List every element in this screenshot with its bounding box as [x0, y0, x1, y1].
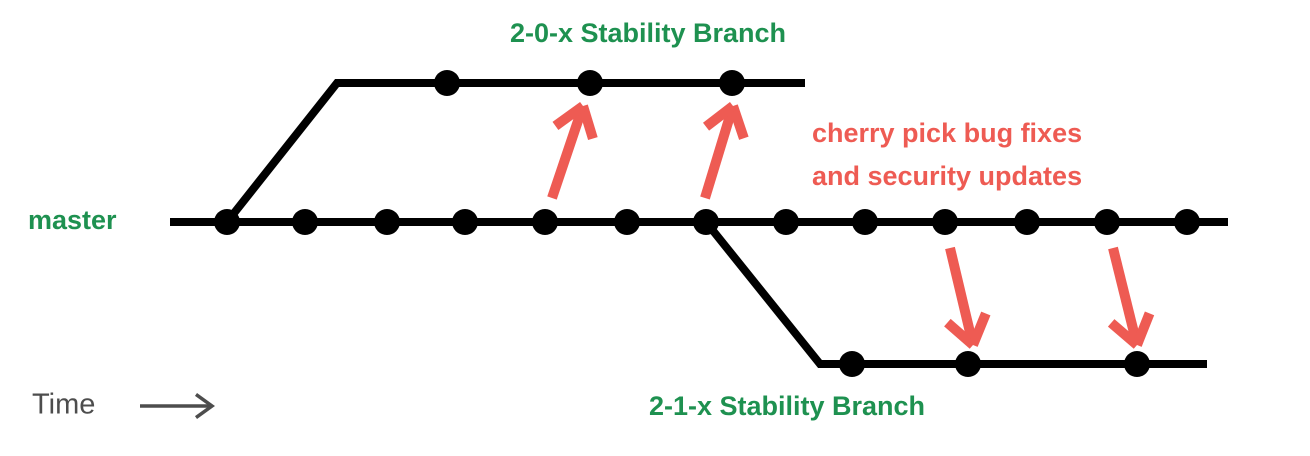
commit-node [1094, 209, 1120, 235]
annotation-cherry-pick-line2: and security updates [812, 161, 1082, 191]
commit-node [955, 351, 981, 377]
commit-node [577, 70, 603, 96]
cherry-pick-arrow-down [1111, 248, 1149, 345]
commit-node [452, 209, 478, 235]
arrow-head-barb-2 [1137, 313, 1150, 345]
cherry-pick-arrow-up [552, 106, 593, 198]
commit-node [693, 209, 719, 235]
label-2-0-x-stability-branch: 2-0-x Stability Branch [510, 18, 786, 48]
commit-node [932, 209, 958, 235]
commit-node [839, 351, 865, 377]
label-2-1-x-stability-branch: 2-1-x Stability Branch [649, 391, 925, 421]
label-time-axis: Time [32, 389, 95, 421]
arrow-head-barb-2 [973, 314, 986, 345]
commit-node [374, 209, 400, 235]
commit-node [1174, 209, 1200, 235]
time-axis-arrow [140, 394, 212, 417]
commit-node [434, 70, 460, 96]
commit-node [719, 70, 745, 96]
git-branch-diagram: 2-0-x Stability Branch 2-1-x Stability B… [0, 0, 1310, 456]
commit-node [852, 209, 878, 235]
commit-node [214, 209, 240, 235]
diagram-canvas: 2-0-x Stability Branch 2-1-x Stability B… [0, 0, 1310, 456]
cherry-pick-arrow-down [947, 248, 985, 345]
commit-node [1124, 351, 1150, 377]
commit-node [614, 209, 640, 235]
commit-node [1014, 209, 1040, 235]
label-master-branch: master [28, 205, 117, 235]
cherry-pick-arrow-up [705, 106, 744, 198]
annotation-cherry-pick-line1: cherry pick bug fixes [812, 118, 1082, 148]
commit-node [532, 209, 558, 235]
commit-node [773, 209, 799, 235]
commit-node [292, 209, 318, 235]
